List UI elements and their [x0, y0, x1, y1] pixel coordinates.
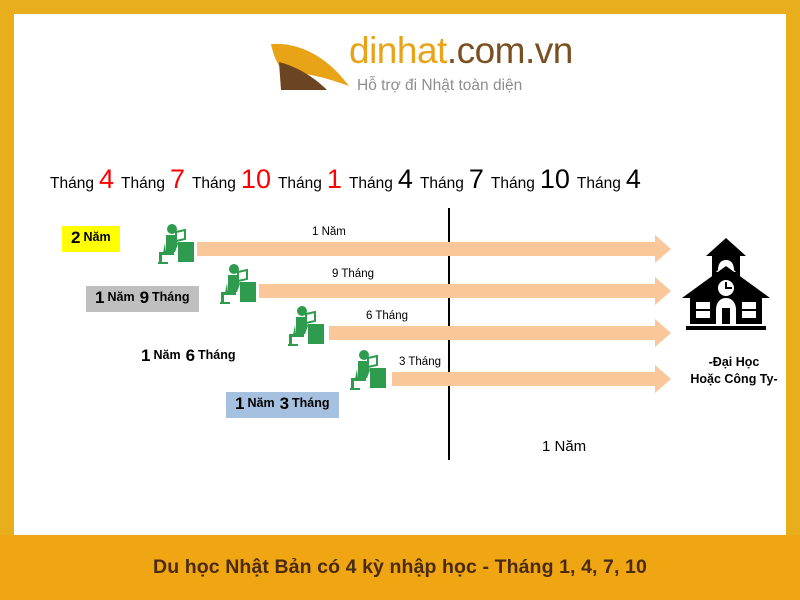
- duration-badge-0-num1: 2: [71, 229, 80, 248]
- arrow-head-icon-3: [655, 365, 671, 393]
- poster-canvas: dinhat.com.vn Hỗ trợ đi Nhật toàn diện T…: [14, 14, 786, 535]
- duration-badge-0: 2 Năm: [62, 226, 120, 252]
- student-desk-icon-3: [344, 348, 388, 392]
- arrow-head-icon-1: [655, 277, 671, 305]
- month-word-2: Tháng: [192, 175, 236, 193]
- bird-wing-logo-icon: [269, 34, 351, 96]
- duration-badge-2-unit2: Tháng: [198, 349, 236, 363]
- bottom-banner-text: Du học Nhật Bản có 4 kỳ nhập học - Tháng…: [153, 556, 647, 579]
- month-word-5: Tháng: [420, 175, 464, 193]
- student-desk-icon-2: [282, 304, 326, 348]
- month-header-row: Tháng 4 Tháng 7 Tháng 10 Tháng 1 Tháng 4…: [50, 166, 770, 206]
- duration-badge-1-unit2: Tháng: [152, 291, 190, 305]
- duration-badge-1-num1: 1: [95, 289, 104, 308]
- bottom-banner: Du học Nhật Bản có 4 kỳ nhập học - Tháng…: [0, 535, 800, 600]
- logo-wordmark: dinhat.com.vn: [349, 30, 573, 72]
- month-number-3: 1: [327, 166, 342, 193]
- arrow-head-icon-0: [655, 235, 671, 263]
- duration-badge-0-unit1: Năm: [83, 231, 110, 245]
- study-bar-1-label: 9 Tháng: [332, 268, 374, 280]
- post-enrollment-duration-label: 1 Năm: [542, 438, 586, 455]
- month-number-2: 10: [241, 166, 271, 193]
- month-number-0: 4: [99, 166, 114, 193]
- logo-word-tld: .com.vn: [447, 30, 573, 71]
- month-label-5: Tháng 7: [420, 166, 491, 193]
- study-bar-2: [329, 326, 656, 340]
- duration-badge-3: 1 Năm 3 Tháng: [226, 392, 339, 418]
- month-number-6: 10: [540, 166, 570, 193]
- month-label-7: Tháng 4: [577, 166, 648, 193]
- destination-caption-line1: -Đại Học: [674, 354, 794, 371]
- student-desk-icon-0: [152, 222, 196, 266]
- month-word-7: Tháng: [577, 175, 621, 193]
- duration-badge-3-num2: 3: [280, 395, 289, 414]
- month-number-7: 4: [626, 166, 641, 193]
- month-label-3: Tháng 1: [278, 166, 349, 193]
- month-number-4: 4: [398, 166, 413, 193]
- month-label-2: Tháng 10: [192, 166, 278, 193]
- month-word-6: Tháng: [491, 175, 535, 193]
- destination-caption-line2: Hoặc Công Ty-: [674, 371, 794, 388]
- duration-badge-1: 1 Năm 9 Tháng: [86, 286, 199, 312]
- duration-badge-3-unit2: Tháng: [292, 397, 330, 411]
- logo-word-main: dinhat: [349, 30, 447, 71]
- duration-badge-3-num1: 1: [235, 395, 244, 414]
- duration-badge-1-num2: 9: [140, 289, 149, 308]
- month-word-1: Tháng: [121, 175, 165, 193]
- school-building-icon: [678, 236, 774, 336]
- duration-badge-1-unit1: Năm: [107, 291, 134, 305]
- month-number-1: 7: [170, 166, 185, 193]
- month-label-4: Tháng 4: [349, 166, 420, 193]
- month-label-6: Tháng 10: [491, 166, 577, 193]
- site-logo[interactable]: dinhat.com.vn Hỗ trợ đi Nhật toàn diện: [269, 22, 569, 110]
- duration-badge-2: 1 Năm 6 Tháng: [132, 344, 245, 370]
- month-word-4: Tháng: [349, 175, 393, 193]
- destination-caption: -Đại Học Hoặc Công Ty-: [674, 354, 794, 388]
- study-bar-3: [392, 372, 656, 386]
- duration-badge-2-unit1: Năm: [153, 349, 180, 363]
- student-desk-icon-1: [214, 262, 258, 306]
- duration-badge-3-unit1: Năm: [247, 397, 274, 411]
- arrow-head-icon-2: [655, 319, 671, 347]
- poster-root: dinhat.com.vn Hỗ trợ đi Nhật toàn diện T…: [0, 0, 800, 600]
- study-bar-0: [197, 242, 656, 256]
- month-word-0: Tháng: [50, 175, 94, 193]
- month-label-0: Tháng 4: [50, 166, 121, 193]
- month-number-5: 7: [469, 166, 484, 193]
- study-bar-0-label: 1 Năm: [312, 226, 346, 238]
- month-label-1: Tháng 7: [121, 166, 192, 193]
- duration-badge-2-num2: 6: [186, 347, 195, 366]
- logo-tagline: Hỗ trợ đi Nhật toàn diện: [357, 77, 522, 95]
- month-word-3: Tháng: [278, 175, 322, 193]
- study-bar-2-label: 6 Tháng: [366, 310, 408, 322]
- study-bar-3-label: 3 Tháng: [399, 356, 441, 368]
- study-bar-1: [259, 284, 656, 298]
- duration-badge-2-num1: 1: [141, 347, 150, 366]
